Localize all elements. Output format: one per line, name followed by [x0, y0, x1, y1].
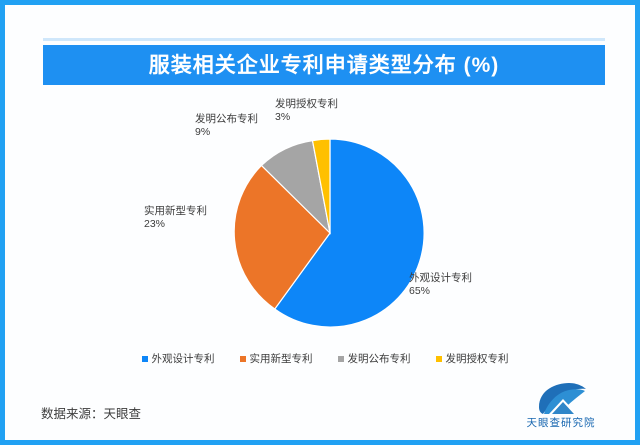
legend-swatch-icon: [338, 356, 344, 362]
pie-label-faming-shouquan-value: 3%: [275, 111, 338, 124]
legend-swatch-icon: [436, 356, 442, 362]
legend-item-label: 发明公布专利: [348, 353, 411, 365]
legend-swatch-icon: [142, 356, 148, 362]
eye-wing-logo-icon: [536, 383, 586, 414]
brand-logo-text: 天眼查研究院: [509, 415, 613, 430]
pie-label-faming-gongbu: 发明公布专利 9%: [195, 113, 258, 139]
pie-label-faming-gongbu-value: 9%: [195, 126, 258, 139]
pie-label-faming-shouquan-name: 发明授权专利: [275, 98, 338, 110]
legend-swatch-icon: [240, 356, 246, 362]
pie-label-faming-shouquan: 发明授权专利 3%: [275, 98, 338, 124]
page-title: 服装相关企业专利申请类型分布 (%): [149, 55, 500, 76]
pie-label-waiguan-sheji: 外观设计专利 65%: [409, 272, 472, 298]
pie-label-waiguan-sheji-name: 外观设计专利: [409, 272, 472, 284]
pie-label-faming-gongbu-name: 发明公布专利: [195, 113, 258, 125]
legend-item-label: 发明授权专利: [446, 353, 509, 365]
legend-item-shiyong-xinxing[interactable]: 实用新型专利: [240, 353, 313, 365]
infographic-card: 服装相关企业专利申请类型分布 (%) 外观设计专利 65% 实用新型专利: [0, 0, 640, 445]
chart-legend: 外观设计专利 实用新型专利 发明公布专利 发明授权专利: [5, 353, 640, 365]
pie-label-waiguan-sheji-value: 65%: [409, 285, 472, 298]
pie-label-shiyong-xinxing-value: 23%: [144, 218, 207, 231]
legend-item-faming-gongbu[interactable]: 发明公布专利: [338, 353, 411, 365]
data-source-note: 数据来源：天眼查: [41, 403, 141, 422]
legend-item-waiguan-sheji[interactable]: 外观设计专利: [142, 353, 215, 365]
pie-chart: 外观设计专利 65% 实用新型专利 23% 发明公布专利 9% 发明授权专利 3…: [5, 91, 640, 346]
legend-item-label: 外观设计专利: [152, 353, 215, 365]
pie-label-shiyong-xinxing: 实用新型专利 23%: [144, 205, 207, 231]
legend-item-faming-shouquan[interactable]: 发明授权专利: [436, 353, 509, 365]
title-top-rule: [43, 38, 605, 41]
title-bar: 服装相关企业专利申请类型分布 (%): [43, 45, 605, 85]
pie-chart-svg: [5, 91, 640, 346]
pie-label-shiyong-xinxing-name: 实用新型专利: [144, 205, 207, 217]
legend-item-label: 实用新型专利: [250, 353, 313, 365]
brand-logo: 天眼查研究院: [509, 383, 613, 431]
page-background: 服装相关企业专利申请类型分布 (%) 外观设计专利 65% 实用新型专利: [5, 5, 635, 440]
